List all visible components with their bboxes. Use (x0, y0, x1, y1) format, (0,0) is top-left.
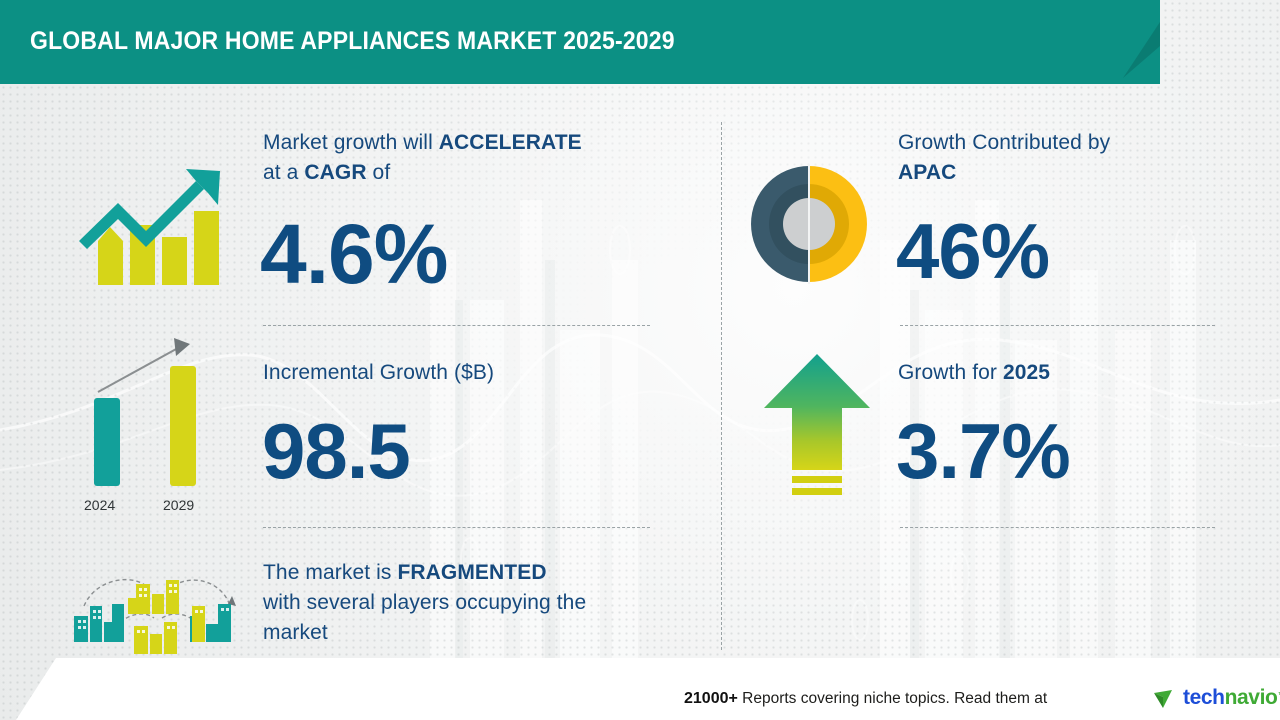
header-fold-corner (1105, 0, 1165, 110)
technavio-mark-icon (1152, 688, 1176, 710)
fragmentation-line1-plain: The market is (263, 561, 397, 584)
apac-statement: Growth Contributed by APAC (898, 128, 1218, 188)
cagr-line2-bold: CAGR (304, 161, 366, 184)
cagr-value: 4.6% (260, 212, 447, 296)
apac-value: 46% (896, 212, 1049, 290)
logo-text-tech: tech (1183, 686, 1225, 709)
right-divider-2 (900, 527, 1215, 528)
incremental-growth-value: 98.5 (262, 412, 410, 490)
incremental-growth-label: Incremental Growth ($B) (263, 358, 663, 388)
left-divider-2 (263, 527, 650, 528)
cagr-line2-tail: of (367, 161, 391, 184)
bar-label-2024: 2024 (84, 497, 115, 513)
fragmentation-line1-bold: FRAGMENTED (397, 561, 546, 584)
growth-2025-statement: Growth for 2025 (898, 358, 1218, 388)
bar-label-2029: 2029 (163, 497, 194, 513)
city-cluster-icon (62, 560, 242, 660)
growth-2025-line1-plain: Growth for (898, 361, 1003, 384)
column-divider (721, 122, 722, 650)
growth-2025-value: 3.7% (896, 412, 1070, 490)
cagr-line2-plain: at a (263, 161, 304, 184)
technavio-logo[interactable]: technavio™ (1183, 686, 1280, 710)
logo-text-navio: navio (1225, 686, 1278, 709)
infographic-canvas: GLOBAL MAJOR HOME APPLIANCES MARKET 2025… (0, 0, 1280, 720)
page-title: GLOBAL MAJOR HOME APPLIANCES MARKET 2025… (30, 27, 675, 56)
up-arrow-icon (762, 352, 872, 504)
apac-line1: Growth Contributed by (898, 131, 1110, 154)
bar-comparison-icon (70, 330, 230, 515)
cagr-statement: Market growth will ACCELERATE at a CAGR … (263, 128, 663, 188)
footer-report-count: 21000+ (684, 690, 738, 707)
fragmentation-line3: market (263, 621, 328, 644)
apac-line2-bold: APAC (898, 161, 956, 184)
right-divider-1 (900, 325, 1215, 326)
growth-2025-line1-bold: 2025 (1003, 361, 1050, 384)
footer-tagline: Reports covering niche topics. Read them… (742, 690, 1047, 707)
donut-chart-icon (745, 160, 873, 288)
fragmentation-line2: with several players occupying the (263, 591, 586, 614)
footer-message: 21000+ Reports covering niche topics. Re… (684, 690, 1047, 708)
growth-chart-icon (68, 145, 233, 295)
fragmentation-statement: The market is FRAGMENTED with several pl… (263, 558, 683, 648)
cagr-line1-plain: Market growth will (263, 131, 439, 154)
cagr-line1-bold: ACCELERATE (439, 131, 582, 154)
left-divider-1 (263, 325, 650, 326)
